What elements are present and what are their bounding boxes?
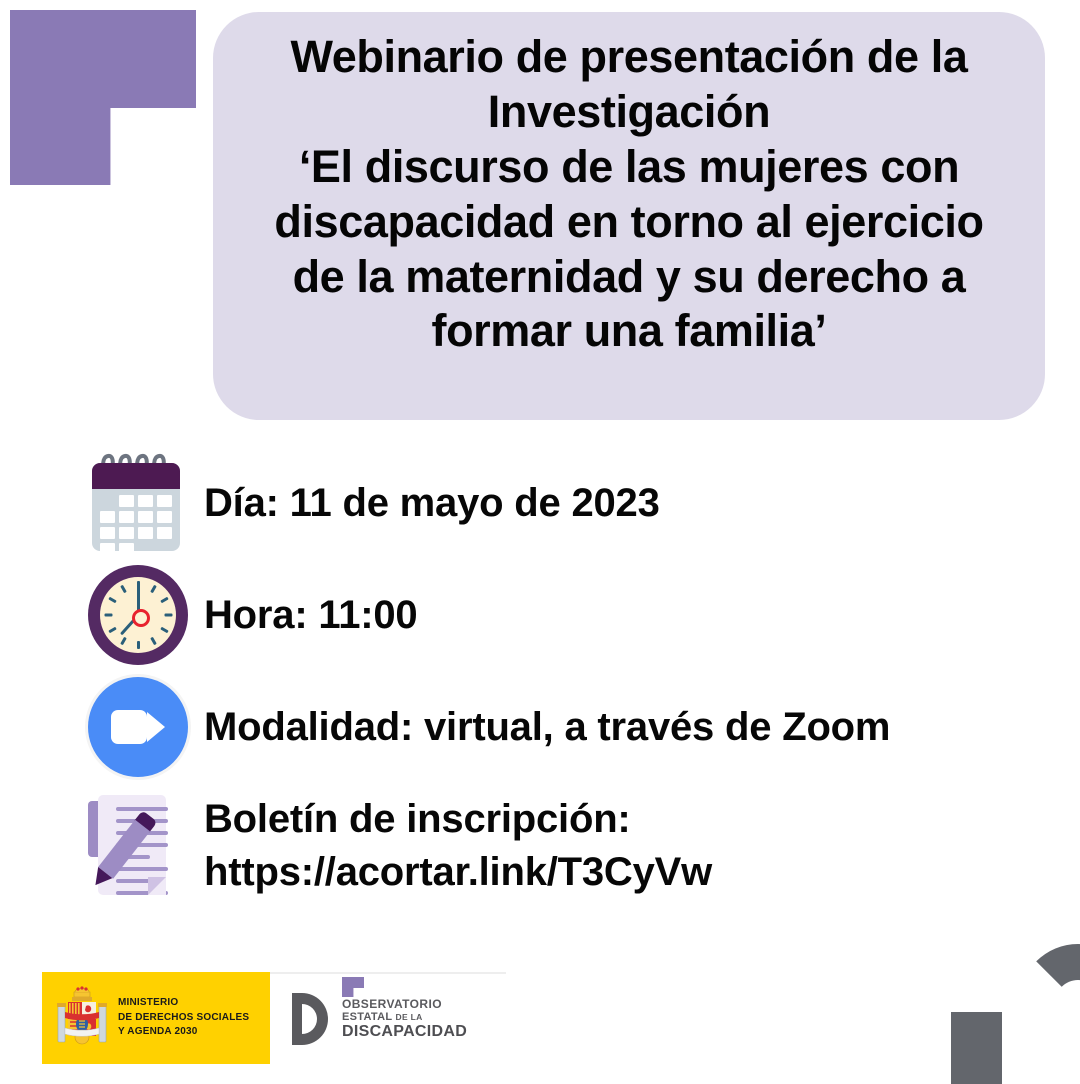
decoration-bottom-right-gray-arc [1019, 944, 1080, 1062]
government-logo-text: MINISTERIO DE DERECHOS SOCIALES Y AGENDA… [118, 996, 249, 1040]
form-icon-slot [88, 794, 204, 898]
calendar-header-band [92, 463, 180, 489]
clock-center-dot [132, 609, 150, 627]
detail-row-registration: Boletín de inscripción: https://acortar.… [0, 783, 1080, 909]
observatory-purple-mark-icon [342, 977, 364, 997]
video-camera-glyph [111, 710, 165, 744]
clock-icon-slot [88, 563, 204, 667]
form-folded-corner [148, 877, 166, 895]
calendar-day-grid [100, 495, 172, 551]
detail-text-time: Hora: 11:00 [204, 589, 417, 642]
calendar-icon [88, 453, 184, 553]
clock-icon [88, 565, 188, 665]
observatory-logo-text: OBSERVATORIO ESTATAL DE LA DISCAPACIDAD [342, 997, 467, 1041]
observatory-logo: OBSERVATORIO ESTATAL DE LA DISCAPACIDAD [270, 972, 506, 1064]
title-line-6: formar una familia’ [235, 304, 1023, 359]
event-details-list: Día: 11 de mayo de 2023 [0, 447, 1080, 909]
detail-row-time: Hora: 11:00 [0, 559, 1080, 671]
spanish-coat-of-arms-icon [54, 984, 110, 1052]
government-logo: MINISTERIO DE DERECHOS SOCIALES Y AGENDA… [42, 972, 270, 1064]
letter-d-mark-icon [286, 991, 332, 1047]
detail-row-date: Día: 11 de mayo de 2023 [0, 447, 1080, 559]
title-line-3: ‘El discurso de las mujeres con [235, 140, 1023, 195]
detail-row-modality: Modalidad: virtual, a través de Zoom [0, 671, 1080, 783]
zoom-video-icon [88, 677, 188, 777]
title-line-5: de la maternidad y su derecho a [235, 250, 1023, 305]
calendar-body [92, 463, 180, 551]
decoration-bottom-right-gray-bar [951, 1012, 1002, 1084]
observatory-line-2: ESTATAL DE LA [342, 1011, 467, 1023]
title-line-2: Investigación [235, 85, 1023, 140]
observatory-line-2-light: DE LA [396, 1012, 423, 1022]
detail-text-registration: Boletín de inscripción: https://acortar.… [204, 793, 712, 899]
registration-form-icon [88, 793, 188, 899]
observatory-line-3: DISCAPACIDAD [342, 1023, 467, 1041]
zoom-icon-slot [88, 675, 204, 779]
detail-text-date: Día: 11 de mayo de 2023 [204, 477, 660, 530]
footer-logo-strip: MINISTERIO DE DERECHOS SOCIALES Y AGENDA… [42, 972, 506, 1064]
decoration-top-left-purple-shape [10, 10, 196, 185]
observatory-line-2-strong: ESTATAL [342, 1011, 392, 1023]
title-card: Webinario de presentación de la Investig… [213, 12, 1045, 420]
observatory-line-1: OBSERVATORIO [342, 997, 467, 1011]
title-line-4: discapacidad en torno al ejercicio [235, 195, 1023, 250]
calendar-icon-slot [88, 451, 204, 555]
title-line-1: Webinario de presentación de la [235, 30, 1023, 85]
detail-text-modality: Modalidad: virtual, a través de Zoom [204, 701, 890, 754]
clock-face [100, 577, 176, 653]
